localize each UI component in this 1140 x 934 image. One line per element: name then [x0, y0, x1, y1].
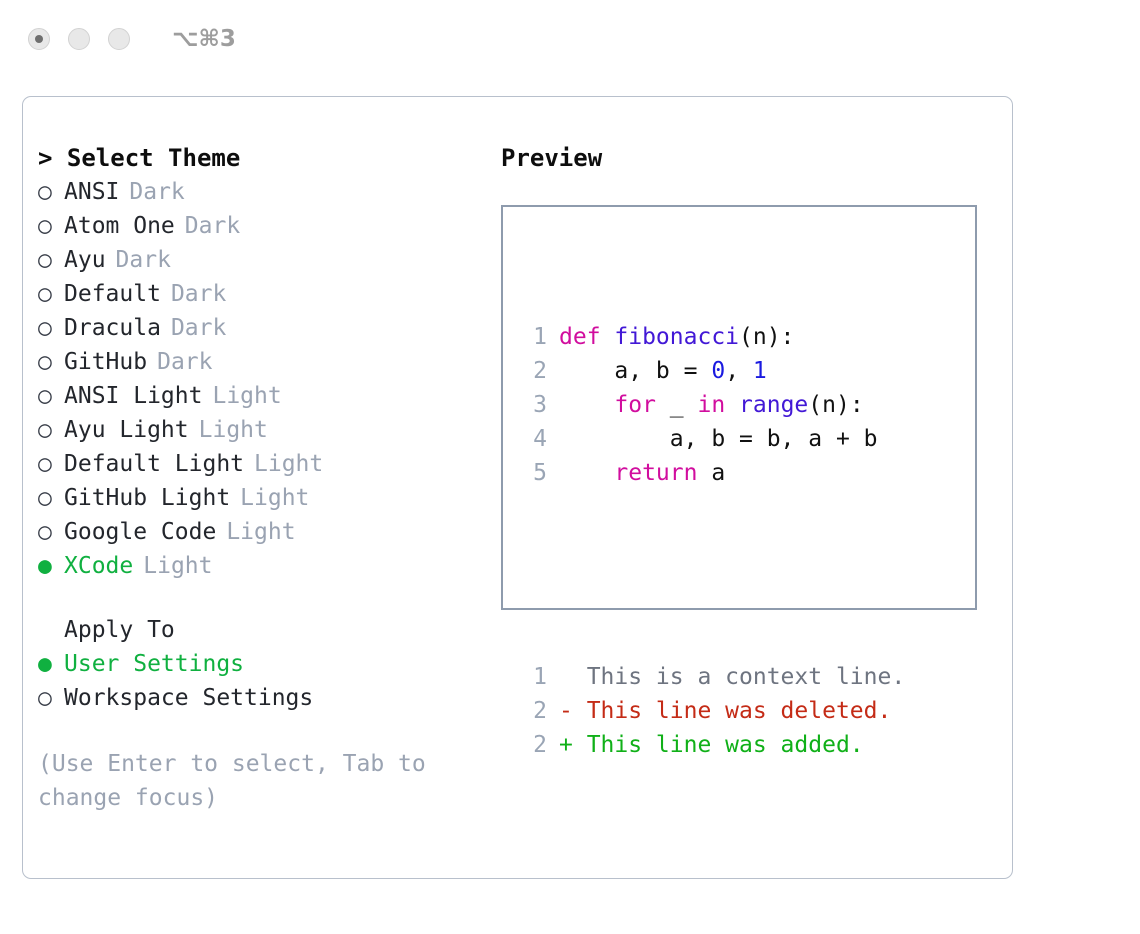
- diff-line-ctx: 1 This is a context line.: [521, 660, 905, 694]
- theme-option-variant-tag: Light: [212, 379, 281, 413]
- window-controls: [28, 28, 130, 50]
- theme-option-variant-tag: Light: [143, 549, 212, 583]
- apply-to-option-label: Workspace Settings: [64, 681, 313, 715]
- code-line: 4 a, b = b, a + b: [521, 422, 905, 456]
- radio-unselected-icon: ○: [38, 175, 64, 209]
- theme-option-github[interactable]: ○GitHubDark: [38, 345, 488, 379]
- theme-option-label: ANSI: [64, 175, 119, 209]
- radio-unselected-icon: ○: [38, 413, 64, 447]
- theme-option-dracula[interactable]: ○DraculaDark: [38, 311, 488, 345]
- code-token-kw: in: [697, 392, 725, 418]
- code-line-text: def fibonacci(n):: [559, 320, 794, 354]
- code-line: 1def fibonacci(n):: [521, 320, 905, 354]
- code-sample: 1def fibonacci(n):2 a, b = 0, 13 for _ i…: [521, 252, 905, 830]
- diff-line-del: 2- This line was deleted.: [521, 694, 905, 728]
- window-dot-active[interactable]: [28, 28, 50, 50]
- code-token-plain: a: [697, 460, 725, 486]
- code-line: 5 return a: [521, 456, 905, 490]
- code-line-text: a, b = 0, 1: [559, 354, 767, 388]
- code-token-plain: a, b =: [559, 358, 711, 384]
- code-token-num: 0: [711, 358, 725, 384]
- radio-unselected-icon: ○: [38, 209, 64, 243]
- theme-option-label: GitHub: [64, 345, 147, 379]
- code-lines: 1def fibonacci(n):2 a, b = 0, 13 for _ i…: [521, 320, 905, 490]
- theme-option-label: Ayu Light: [64, 413, 189, 447]
- code-line: 3 for _ in range(n):: [521, 388, 905, 422]
- diff-line-add: 2+ This line was added.: [521, 728, 905, 762]
- radio-selected-icon: ●: [38, 647, 64, 681]
- theme-option-variant-tag: Dark: [171, 311, 226, 345]
- theme-option-label: ANSI Light: [64, 379, 202, 413]
- diff-line-text: + This line was added.: [559, 728, 864, 762]
- preview-title: Preview: [501, 141, 991, 175]
- diff-line-text: - This line was deleted.: [559, 694, 891, 728]
- theme-option-label: Default Light: [64, 447, 244, 481]
- code-token-kw: def: [559, 324, 614, 350]
- apply-to-option-workspace-settings[interactable]: ○Workspace Settings: [38, 681, 488, 715]
- code-token-fn: range: [739, 392, 808, 418]
- diff-line-number: 2: [521, 728, 547, 762]
- apply-to-header-row: ○ Apply To: [38, 613, 488, 647]
- preview-column: Preview 1def fibonacci(n):2 a, b = 0, 13…: [501, 141, 991, 610]
- theme-option-label: Ayu: [64, 243, 106, 277]
- code-line-text: return a: [559, 456, 725, 490]
- theme-option-atom-one[interactable]: ○Atom OneDark: [38, 209, 488, 243]
- preview-box: 1def fibonacci(n):2 a, b = 0, 13 for _ i…: [501, 205, 977, 610]
- radio-unselected-icon: ○: [38, 277, 64, 311]
- window-dot-3[interactable]: [108, 28, 130, 50]
- code-line-number: 3: [521, 388, 547, 422]
- code-line-number: 4: [521, 422, 547, 456]
- theme-option-label: Dracula: [64, 311, 161, 345]
- theme-option-variant-tag: Dark: [157, 345, 212, 379]
- theme-option-variant-tag: Dark: [129, 175, 184, 209]
- code-token-kw: for: [614, 392, 656, 418]
- terminal-window: ⌥⌘3 > Select Theme ○ANSIDark○Atom OneDar…: [0, 0, 1140, 934]
- code-token-kw: return: [614, 460, 697, 486]
- code-token-plain: [725, 392, 739, 418]
- title-bar: ⌥⌘3: [0, 0, 1140, 78]
- theme-option-default[interactable]: ○DefaultDark: [38, 277, 488, 311]
- radio-unselected-icon: ○: [38, 481, 64, 515]
- theme-option-variant-tag: Light: [199, 413, 268, 447]
- theme-option-ayu[interactable]: ○AyuDark: [38, 243, 488, 277]
- theme-option-variant-tag: Light: [254, 447, 323, 481]
- code-token-plain: (n):: [808, 392, 863, 418]
- code-token-plain: ,: [725, 358, 753, 384]
- diff-line-number: 1: [521, 660, 547, 694]
- radio-unselected-icon: ○: [38, 379, 64, 413]
- code-token-plain: a, b = b, a + b: [559, 426, 878, 452]
- code-token-plain: [559, 460, 614, 486]
- window-dot-2[interactable]: [68, 28, 90, 50]
- theme-option-variant-tag: Light: [240, 481, 309, 515]
- code-token-num: 1: [753, 358, 767, 384]
- theme-option-variant-tag: Dark: [171, 277, 226, 311]
- theme-selector-column: > Select Theme ○ANSIDark○Atom OneDark○Ay…: [38, 141, 488, 815]
- select-theme-header: > Select Theme: [38, 141, 488, 175]
- theme-option-ansi-light[interactable]: ○ANSI LightLight: [38, 379, 488, 413]
- theme-option-label: Default: [64, 277, 161, 311]
- code-line-text: for _ in range(n):: [559, 388, 864, 422]
- diff-lines: 1 This is a context line.2- This line wa…: [521, 660, 905, 762]
- apply-to-option-label: User Settings: [64, 647, 244, 681]
- radio-unselected-icon: ○: [38, 515, 64, 549]
- theme-option-variant-tag: Dark: [116, 243, 171, 277]
- radio-unselected-icon: ○: [38, 311, 64, 345]
- keyboard-shortcut-label: ⌥⌘3: [172, 26, 236, 52]
- main-panel: > Select Theme ○ANSIDark○Atom OneDark○Ay…: [22, 96, 1013, 879]
- apply-to-header: Apply To: [64, 613, 175, 647]
- theme-option-ayu-light[interactable]: ○Ayu LightLight: [38, 413, 488, 447]
- theme-option-default-light[interactable]: ○Default LightLight: [38, 447, 488, 481]
- code-line-number: 1: [521, 320, 547, 354]
- radio-unselected-icon: ○: [38, 681, 64, 715]
- apply-to-option-list: ●User Settings○Workspace Settings: [38, 647, 488, 715]
- diff-line-number: 2: [521, 694, 547, 728]
- theme-option-label: Google Code: [64, 515, 216, 549]
- theme-option-variant-tag: Light: [226, 515, 295, 549]
- code-line-text: a, b = b, a + b: [559, 422, 878, 456]
- theme-option-label: GitHub Light: [64, 481, 230, 515]
- window-dot-active-fill: [35, 35, 43, 43]
- theme-option-variant-tag: Dark: [185, 209, 240, 243]
- apply-to-option-user-settings[interactable]: ●User Settings: [38, 647, 488, 681]
- keyboard-hint-text: (Use Enter to select, Tab to change focu…: [38, 747, 448, 815]
- theme-option-github-light[interactable]: ○GitHub LightLight: [38, 481, 488, 515]
- code-token-plain: (n):: [739, 324, 794, 350]
- radio-unselected-icon: ○: [38, 243, 64, 277]
- radio-unselected-icon: ○: [38, 345, 64, 379]
- code-line-number: 5: [521, 456, 547, 490]
- theme-option-label: Atom One: [64, 209, 175, 243]
- apply-to-header-marker-spacer: ○: [38, 613, 64, 647]
- theme-option-google-code[interactable]: ○Google CodeLight: [38, 515, 488, 549]
- theme-option-list: ○ANSIDark○Atom OneDark○AyuDark○DefaultDa…: [38, 175, 488, 583]
- diff-line-text: This is a context line.: [559, 660, 905, 694]
- radio-selected-icon: ●: [38, 549, 64, 583]
- code-token-fn: fibonacci: [614, 324, 739, 350]
- radio-unselected-icon: ○: [38, 447, 64, 481]
- code-line: 2 a, b = 0, 1: [521, 354, 905, 388]
- code-token-plain: _: [656, 392, 698, 418]
- theme-option-ansi[interactable]: ○ANSIDark: [38, 175, 488, 209]
- theme-option-label: XCode: [64, 549, 133, 583]
- theme-option-xcode[interactable]: ●XCodeLight: [38, 549, 488, 583]
- code-line-number: 2: [521, 354, 547, 388]
- code-token-plain: [559, 392, 614, 418]
